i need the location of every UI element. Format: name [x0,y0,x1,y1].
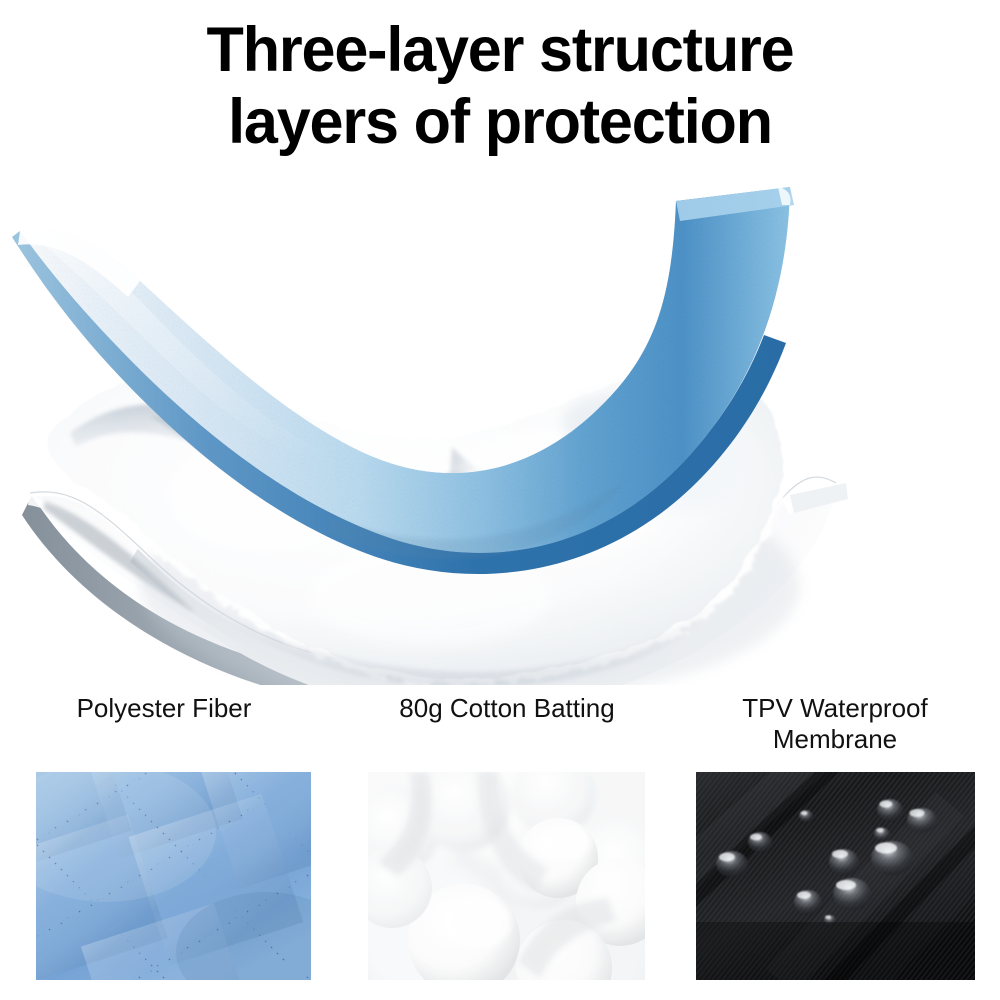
infographic-page: Three-layer structure layers of protecti… [0,0,1000,1000]
illustration-layer-names: blue polyester fiber ribbon white cotton… [0,0,1,1]
caption-tpv-membrane: TPV Waterproof Membrane [690,693,980,755]
page-title: Three-layer structure layers of protecti… [0,14,1000,158]
swatch-polyester-fiber [36,772,311,980]
caption-tpv-line-1: TPV Waterproof [742,693,927,723]
caption-polyester-fiber: Polyester Fiber [18,693,310,724]
layer-captions: Polyester Fiber 80g Cotton Batting TPV W… [0,693,1000,765]
caption-cotton-batting: 80g Cotton Batting [364,693,650,724]
title-line-2: layers of protection [15,86,985,158]
caption-tpv-line-2: Membrane [773,724,897,754]
swatch-tpv-membrane [696,772,975,980]
title-line-1: Three-layer structure [15,14,985,86]
top-layer-name: blue polyester fiber ribbon [0,0,1,1]
material-swatch-row [0,772,1000,982]
swatch-cotton-batting [368,772,645,980]
three-layer-illustration [0,165,1000,685]
